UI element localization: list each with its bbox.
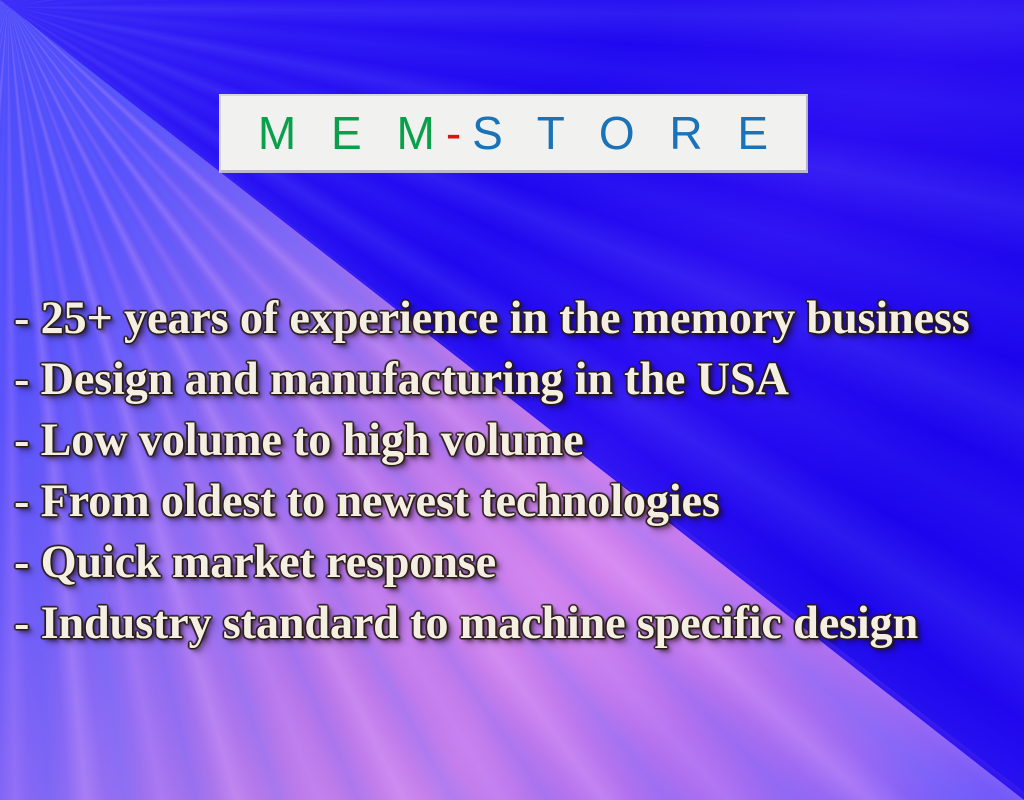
logo-text-dash: - [446,107,472,159]
logo-plate: M E M-S T O R E [219,94,808,173]
bullet-item: - Design and manufacturing in the USA [14,349,999,410]
bullet-item: - Quick market response [14,532,999,593]
bullet-item: - Industry standard to machine specific … [14,593,999,654]
bullet-list: - 25+ years of experience in the memory … [14,288,1014,654]
logo-wordmark: M E M-S T O R E [248,110,779,156]
bullet-item: - 25+ years of experience in the memory … [14,288,999,349]
logo-text-mem: M E M [258,107,446,159]
presentation-slide: M E M-S T O R E - 25+ years of experienc… [0,0,1024,800]
bullet-item: - From oldest to newest technologies [14,471,999,532]
bullet-item: - Low volume to high volume [14,410,999,471]
logo-text-store: S T O R E [472,107,779,159]
